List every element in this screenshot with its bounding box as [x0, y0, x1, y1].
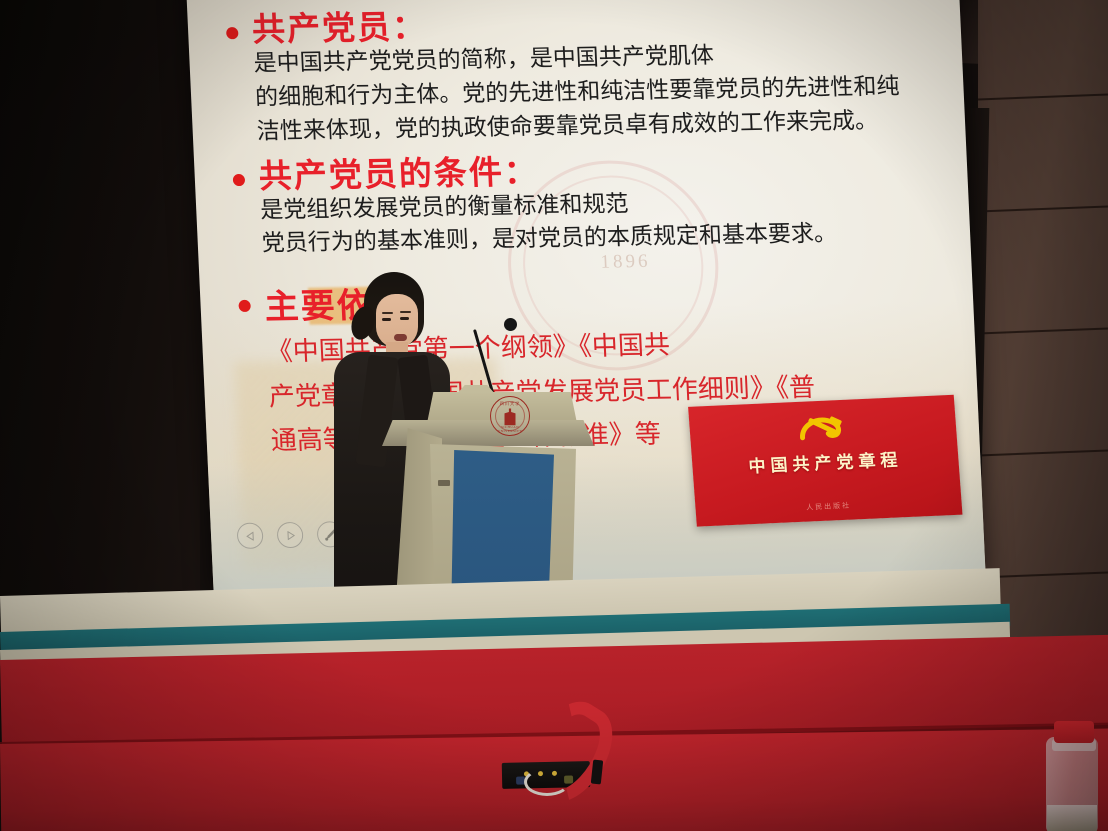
slide-bullet-1: 共产党员： 是中国共产党党员的简称，是中国共产党肌体 的细胞和行为主体。党的先进… [225, 0, 952, 152]
presenter-mouth [394, 334, 407, 341]
left-wall [0, 0, 200, 640]
bullet-1-colon: ： [391, 7, 428, 47]
bullet-1-body: 是中国共产党党员的简称，是中国共产党肌体 的细胞和行为主体。党的先进性和纯洁性要… [253, 38, 952, 148]
bullet-1-heading: 共产党员 [251, 7, 393, 48]
next-slide-button[interactable] [277, 522, 304, 548]
water-bottle [1040, 713, 1102, 831]
bullet-dot-icon [226, 27, 239, 39]
university-seal-icon: 四川大学 SICHUAN UNIVERSITY [490, 396, 530, 436]
bullet-dot-icon [238, 300, 251, 312]
party-constitution-book-image: 中国共产党章程 人民出版社 [688, 395, 962, 527]
book-publisher: 人民出版社 [695, 496, 961, 518]
slide-bullet-2: 共产党员的条件： 是党组织发展党员的衡量标准和规范 党员行为的基本准则，是对党员… [232, 145, 957, 264]
lectern-hinge [438, 480, 450, 486]
book-title: 中国共产党章程 [692, 443, 959, 480]
bottle-label [1047, 805, 1097, 831]
bottle-cap [1054, 721, 1094, 743]
previous-slide-button[interactable] [237, 523, 264, 549]
bullet-dot-icon [233, 174, 246, 186]
bullet-2-colon: ： [503, 151, 540, 191]
seal-tower-glyph [505, 408, 516, 425]
bullet-2-body: 是党组织发展党员的衡量标准和规范 党员行为的基本准则，是对党员的本质规定和基本要… [260, 184, 957, 260]
bullet-2-heading: 共产党员的条件 [258, 152, 505, 195]
screenshot-root: 1896 共产党员： 是中国共产党党员的简称，是中国共产党肌体 的细胞和行为主体… [0, 0, 1108, 831]
seal-english-name: SICHUAN UNIVERSITY [491, 425, 529, 433]
hammer-and-sickle-icon [791, 413, 855, 450]
seal-chinese-name: 四川大学 [491, 401, 529, 407]
microphone-head-icon [504, 318, 517, 331]
